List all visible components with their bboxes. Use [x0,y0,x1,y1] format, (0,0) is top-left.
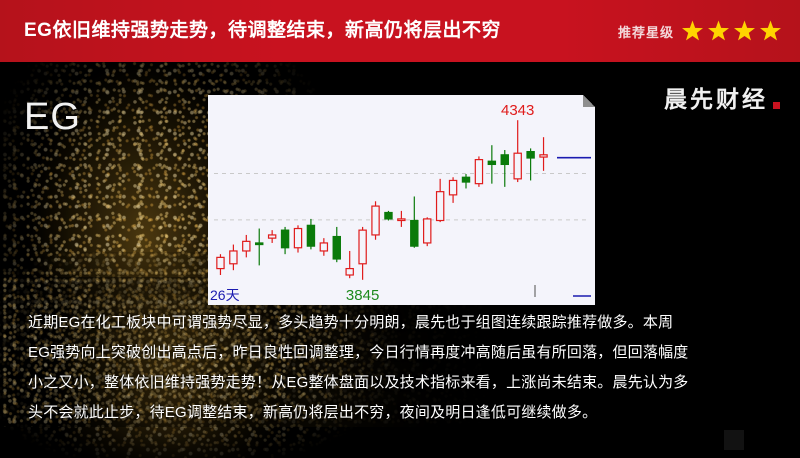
candle-body [333,237,340,259]
brand-dot-icon [773,102,780,109]
banner-title: EG依旧维持强势走势，待调整结束，新高仍将层出不穷 [24,18,501,44]
candle-body [385,213,392,219]
candle-body [475,160,482,184]
star-icon [681,20,704,43]
candle-body [488,161,495,164]
candle-body [307,225,314,246]
commentary-line: 小之又小，整体依旧维持强势走势！从EG整体盘面以及技术指标来看，上涨尚未结束。晨… [28,372,776,393]
candlestick-chart-svg: 4343384526天 [208,95,595,305]
candle-body [437,192,444,221]
poster-root: EG依旧维持强势走势，待调整结束，新高仍将层出不穷 推荐星级 EG 晨先财经 4… [0,0,800,458]
candle-body [243,241,250,251]
candlestick [385,211,392,221]
candlestick [424,217,431,246]
candle-body [514,153,521,179]
candle-body [501,155,508,165]
candle-body [281,230,288,248]
rating-stars [681,20,782,43]
candle-body [346,269,353,275]
star-icon [707,20,730,43]
corner-watermark [724,430,744,450]
ticker-watermark: EG [24,98,81,136]
rating-label: 推荐星级 [618,22,674,41]
chart-high-annotation: 4343 [501,102,534,119]
candle-body [230,251,237,264]
star-icon [733,20,756,43]
poster-body: EG 晨先财经 4343384526天 近期EG在化工板块中可谓强势尽显，多头趋… [0,62,800,458]
candle-body [411,221,418,247]
candle-body [256,243,263,245]
commentary-line: 近期EG在化工板块中可谓强势尽显，多头趋势十分明朗，晨先也于组图连续跟踪推荐做多… [28,312,776,333]
brand-logo: 晨先财经 [664,88,780,111]
candle-body [462,177,469,182]
candle-body [527,152,534,158]
chart-background [208,95,595,305]
candle-body [540,155,547,157]
candle-body [217,257,224,268]
candle-body [424,219,431,243]
chart-low-annotation: 3845 [346,287,379,304]
candle-body [449,180,456,194]
candle-body [269,235,276,238]
candle-body [359,230,366,264]
brand-name: 晨先财经 [664,88,768,111]
commentary-line: 头不会就此止步，待EG调整结束，新高仍将层出不穷，夜间及明日逢低可继续做多。 [28,402,776,423]
header-banner: EG依旧维持强势走势，待调整结束，新高仍将层出不穷 推荐星级 [0,0,800,62]
candlestick [475,156,482,186]
chart-folded-corner-icon [583,95,595,107]
commentary-line: EG强势向上突破创出高点后，昨日良性回调整理，今日行情再度冲高随后虽有所回落，但… [28,342,776,363]
candlestick-chart[interactable]: 4343384526天 [208,95,595,305]
candle-body [398,219,405,221]
rating-group: 推荐星级 [618,20,782,43]
candlestick [372,201,379,239]
chart-ma-annotation: 26天 [210,287,240,303]
commentary-text: 近期EG在化工板块中可谓强势尽显，多头趋势十分明朗，晨先也于组图连续跟踪推荐做多… [28,312,776,423]
candle-body [372,206,379,235]
star-icon [759,20,782,43]
candle-body [294,229,301,248]
candle-body [320,243,327,251]
